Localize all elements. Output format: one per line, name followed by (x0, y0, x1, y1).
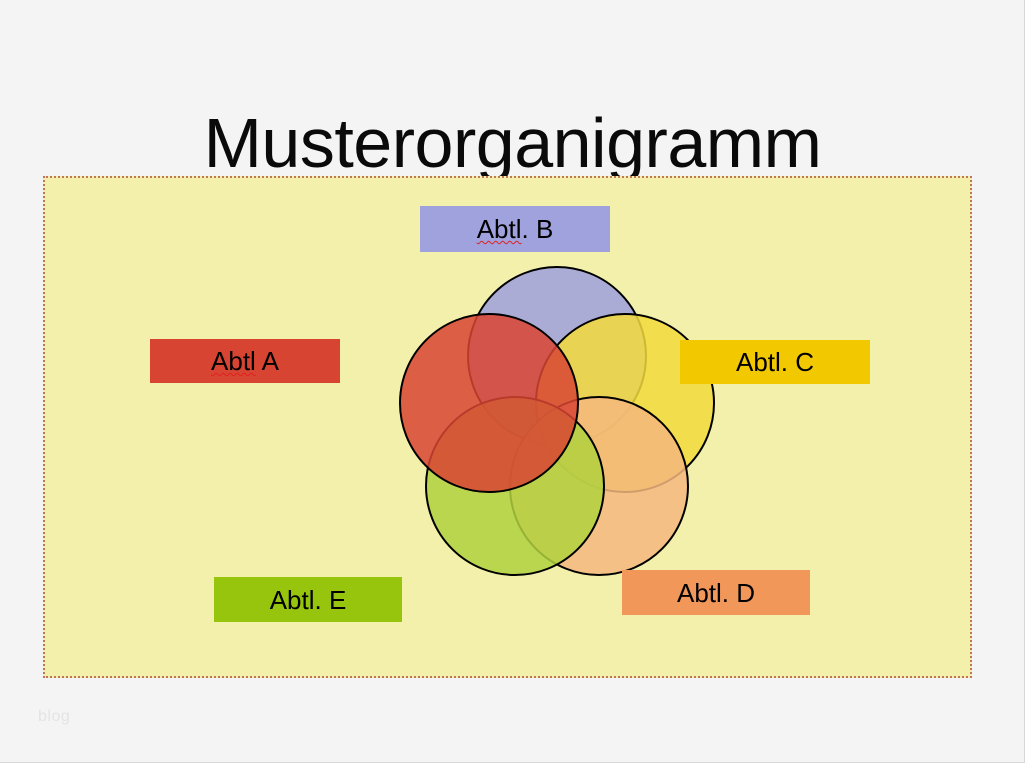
dept-label-abtl-b-text: Abtl. B (477, 214, 554, 244)
dept-label-abtl-b[interactable]: Abtl. B (420, 206, 610, 252)
venn-circle-abtl-a[interactable] (400, 314, 578, 492)
dept-label-abtl-a-rest: A (256, 346, 279, 376)
dept-label-abtl-d-text: Abtl. D (677, 578, 755, 608)
dept-label-abtl-a-misspelled: Abtl (211, 346, 256, 376)
dept-label-abtl-a[interactable]: Abtl A (150, 339, 340, 383)
page-title: Musterorganigramm (0, 101, 1025, 185)
watermark-blog: blog (38, 708, 70, 726)
diagram-panel: Abtl. B Abtl A Abtl. C Abtl. D Abtl. E (43, 176, 972, 678)
dept-label-abtl-e-text: Abtl. E (270, 585, 347, 615)
dept-label-abtl-a-text: Abtl A (211, 346, 279, 376)
venn-circle-group (400, 267, 714, 575)
dept-label-abtl-d[interactable]: Abtl. D (622, 570, 810, 615)
dept-label-abtl-c[interactable]: Abtl. C (680, 340, 870, 384)
presentation-slide: Musterorganigramm Abtl. B Abtl A Abtl. C (0, 0, 1025, 763)
dept-label-abtl-e[interactable]: Abtl. E (214, 577, 402, 622)
dept-label-abtl-b-misspelled: Abtl (477, 214, 522, 244)
venn-diagram (345, 253, 745, 603)
dept-label-abtl-b-rest: . B (522, 214, 554, 244)
dept-label-abtl-c-text: Abtl. C (736, 347, 814, 377)
